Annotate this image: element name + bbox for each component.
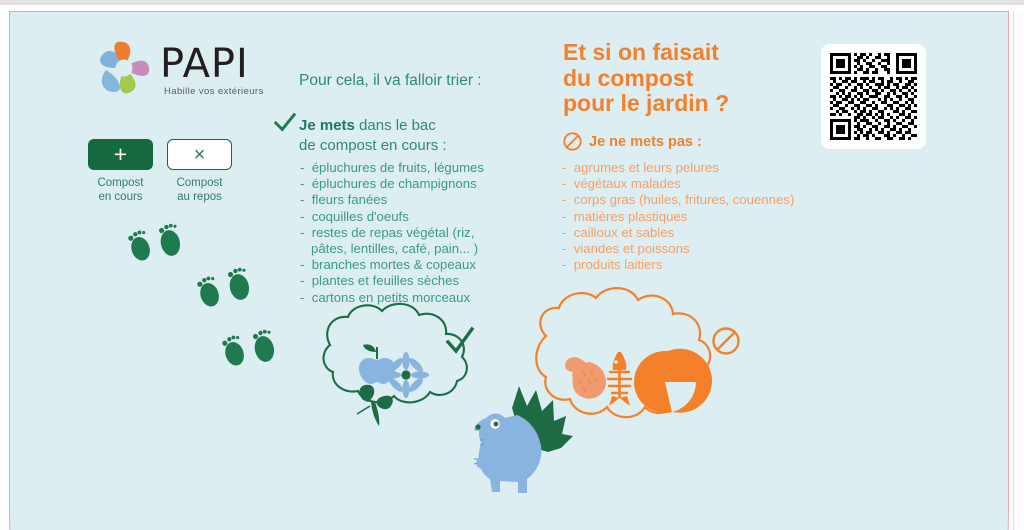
footprints-icon [127, 223, 277, 368]
infographic-stage: PAPI Habille vos extérieurs + × Compost … [0, 0, 1024, 530]
fish-bone-icon [608, 352, 631, 406]
hedgehog-icon [474, 386, 573, 493]
vertical-scrollbar[interactable] [1013, 0, 1024, 530]
window-chrome-inner [0, 5, 1024, 11]
chicken-drumstick-icon [565, 357, 606, 398]
prohibition-icon [714, 329, 739, 354]
leaves-icon [357, 385, 393, 426]
content-layer: PAPI Habille vos extérieurs + × Compost … [0, 0, 1024, 530]
green-cloud [324, 304, 472, 426]
orange-cloud [536, 288, 738, 417]
cheese-wheel-icon [634, 349, 712, 413]
scrollbar-thumb[interactable] [1014, 0, 1023, 530]
flower-icon [383, 352, 429, 398]
illustration-layer [0, 0, 1024, 530]
